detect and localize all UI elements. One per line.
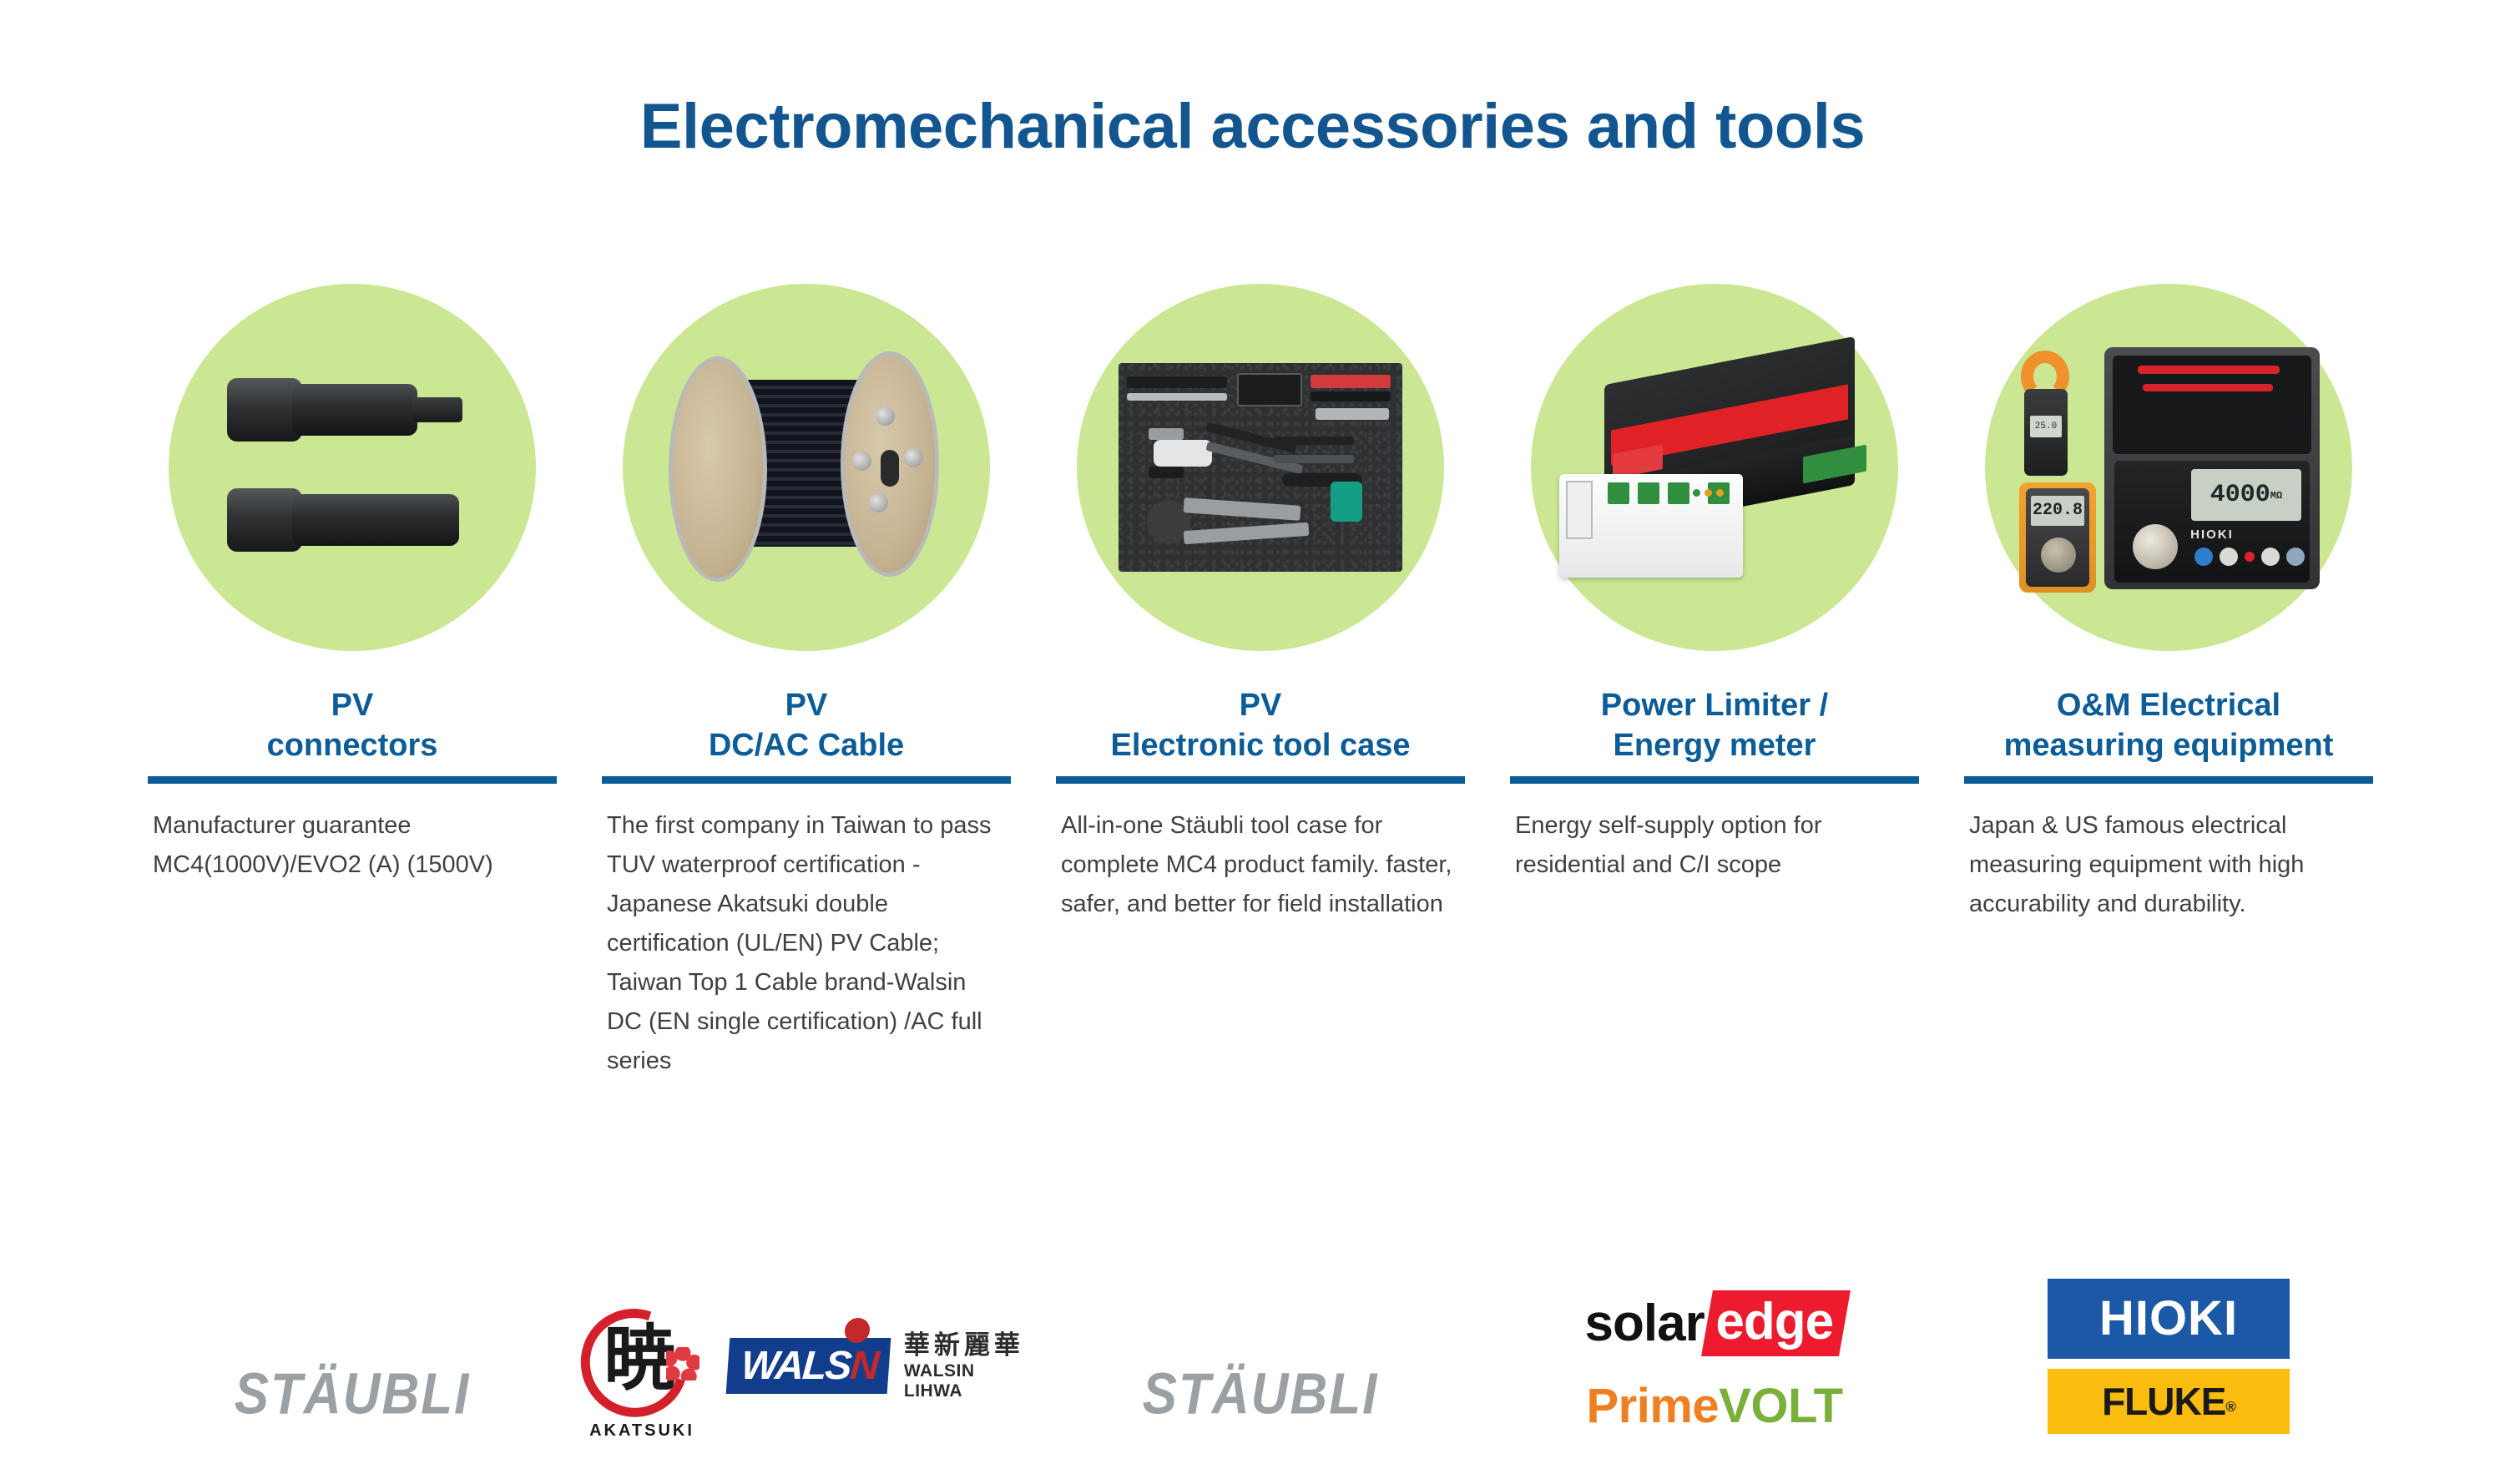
heading-pv-dc-ac-cable: PV DC/AC Cable [602,679,1011,766]
heading-rule [1510,776,1919,784]
body-pv-electronic-tool-case: All-in-one Stäubli tool case for complet… [1061,806,1460,924]
heading-pv-connectors: PV connectors [148,679,557,766]
solaredge-edge-text: edge [1715,1292,1833,1351]
solaredge-logo: solar edge [1585,1290,1845,1356]
heading-rule [148,776,557,784]
akatsuki-logo: 暁 AKATSUKI [579,1304,703,1429]
solaredge-part-edge: edge [1701,1290,1851,1356]
heading-rule [1964,776,2373,784]
heading-line-2: measuring equipment [1964,725,2373,766]
heading-line-1: PV [602,685,1011,726]
walsin-chinese-name: 華新麗華 [904,1331,1033,1361]
fluke-registered-mark: ® [2225,1399,2235,1415]
clamp-meter-icon: 25.0 [2014,351,2079,476]
heading-rule [602,776,1011,784]
body-pv-connectors: Manufacturer guarantee MC4(1000V)/EVO2 (… [153,806,552,885]
logo-cell-power-limiter: solar edge PrimeVOLT [1487,1202,1942,1452]
walsin-logo: WALSN 華新麗華 WALSIN LIHWA [728,1331,1033,1401]
product-image-measuring-equipment: 25.0 220.8 [1985,284,2352,651]
hioki-logo: HIOKI [2048,1279,2290,1359]
hioki-tester-readout: 4000MΩ [2191,469,2301,521]
pv-tool-case-icon [1119,363,1402,572]
heading-line-1: O&M Electrical [1964,685,2373,726]
measuring-instruments-icon: 25.0 220.8 [2014,342,2323,593]
heading-line-2: Electronic tool case [1056,725,1465,766]
cable-brand-logos: 暁 AKATSUKI WALSN 華新麗華 WALSIN LIHWA [579,1304,1033,1429]
product-image-cable-spool [623,284,990,651]
heading-line-1: Power Limiter / [1510,685,1919,726]
product-image-tool-case [1077,284,1444,651]
heading-power-limiter-energy-meter: Power Limiter / Energy meter [1510,679,1919,766]
heading-pv-electronic-tool-case: PV Electronic tool case [1056,679,1465,766]
hioki-unit: MΩ [2270,490,2282,502]
slide-root: Electromechanical accessories and tools … [0,0,2505,1484]
heading-line-2: connectors [148,725,557,766]
akatsuki-wordmark: AKATSUKI [579,1421,705,1441]
cable-spool-icon [669,346,944,588]
heading-line-1: PV [1056,685,1465,726]
fluke-wordmark: FLUKE [2102,1380,2225,1423]
clamp-meter-readout: 25.0 [2030,416,2062,437]
pv-connector-icon [227,363,477,572]
hioki-brand-text: HIOKI [2114,527,2310,542]
fluke-multimeter-icon: 220.8 [2019,482,2096,593]
body-om-measuring-equipment: Japan & US famous electrical measuring e… [1969,806,2368,924]
logo-cell-connectors: STÄUBLI [125,1202,579,1452]
power-brand-logos: solar edge PrimeVOLT [1585,1290,1845,1434]
heading-line-1: PV [148,685,557,726]
brand-logo-strip: STÄUBLI 暁 AKATSUKI WALSN 華新麗華 W [125,1202,2396,1452]
logo-cell-measuring: HIOKI FLUKE® [1942,1202,2396,1452]
product-image-power-limiter [1531,284,1898,651]
heading-line-2: DC/AC Cable [602,725,1011,766]
page-title: Electromechanical accessories and tools [0,90,2505,163]
walsin-mark-accent: N [848,1344,878,1388]
primevolt-part-prime: Prime [1586,1379,1719,1433]
walsin-english-name: WALSIN LIHWA [904,1361,1033,1401]
product-image-pv-connectors [169,284,536,651]
body-power-limiter-energy-meter: Energy self-supply option for residentia… [1515,806,1914,885]
hioki-insulation-tester-icon: 4000MΩ HIOKI [2104,347,2320,589]
primevolt-logo: PrimeVOLT [1586,1378,1842,1434]
heading-om-measuring-equipment: O&M Electrical measuring equipment [1964,679,2373,766]
measuring-brand-logos: HIOKI FLUKE® [2048,1279,2290,1434]
walsin-dot-icon [844,1318,871,1343]
heading-rule [1056,776,1465,784]
power-limiter-icon [1556,342,1873,593]
heading-line-2: Energy meter [1510,725,1919,766]
staubli-logo: STÄUBLI [235,1361,471,1428]
solaredge-part-solar: solar [1585,1294,1705,1353]
staubli-logo: STÄUBLI [1143,1361,1379,1428]
walsin-mark-main: WALS [740,1344,851,1388]
sakura-flower-icon [666,1347,699,1381]
fluke-multimeter-readout: 220.8 [2031,496,2084,526]
energy-meter-icon [1559,474,1743,578]
fluke-logo: FLUKE® [2048,1369,2290,1434]
logo-cell-cable: 暁 AKATSUKI WALSN 華新麗華 WALSIN LIHWA [579,1202,1033,1452]
primevolt-part-volt: VOLT [1719,1379,1842,1433]
walsin-mark: WALSN [725,1338,891,1394]
logo-cell-tool-case: STÄUBLI [1033,1202,1487,1452]
walsin-text-block: 華新麗華 WALSIN LIHWA [904,1331,1033,1401]
hioki-value: 4000 [2210,481,2270,509]
body-pv-dc-ac-cable: The first company in Taiwan to pass TUV … [607,806,1006,1081]
